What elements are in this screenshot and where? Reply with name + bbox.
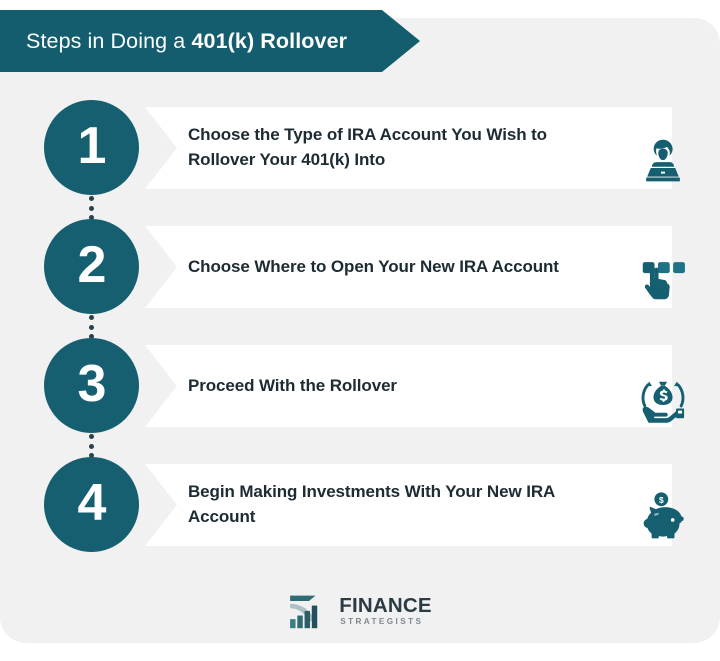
step-label: Choose Where to Open Your New IRA Accoun… [188,255,559,280]
step-number-badge: 2 [44,219,139,314]
step-number-badge: 3 [44,338,139,433]
infographic-root: Steps in Doing a 401(k) Rollover 1 Choos… [0,0,720,661]
step-label: Choose the Type of IRA Account You Wish … [188,123,568,172]
step-item: 2 Choose Where to Open Your New IRA Acco… [0,219,720,339]
bar-chart-arrow-icon [288,592,332,630]
step-card: Proceed With the Rollover [145,345,672,427]
step-item: 1 Choose the Type of IRA Account You Wis… [0,100,720,220]
step-label: Proceed With the Rollover [188,374,397,399]
step-card: Choose the Type of IRA Account You Wish … [145,107,672,189]
hand-click-options-icon [634,250,692,308]
step-number-badge: 1 [44,100,139,195]
footer-logo: FINANCE STRATEGISTS [0,592,720,630]
logo-subtitle: STRATEGISTS [340,618,432,626]
logo-name: FINANCE [339,596,432,617]
step-number-badge: 4 [44,457,139,552]
page-title: Steps in Doing a 401(k) Rollover [26,29,347,54]
header-banner: Steps in Doing a 401(k) Rollover [0,10,420,72]
step-card: Begin Making Investments With Your New I… [145,464,672,546]
svg-text:$: $ [659,495,664,505]
piggy-bank-icon: $ [634,488,692,546]
step-item: 4 Begin Making Investments With Your New… [0,457,720,577]
step-item: 3 Proceed With the Rollover [0,338,720,458]
logo-wordmark: FINANCE STRATEGISTS [339,596,432,627]
page-title-bold: 401(k) Rollover [191,29,347,53]
person-at-laptop-icon [634,131,692,189]
step-card: Choose Where to Open Your New IRA Accoun… [145,226,672,308]
page-title-plain: Steps in Doing a [26,29,191,53]
step-label: Begin Making Investments With Your New I… [188,480,568,529]
money-bag-rollover-icon [634,369,692,427]
